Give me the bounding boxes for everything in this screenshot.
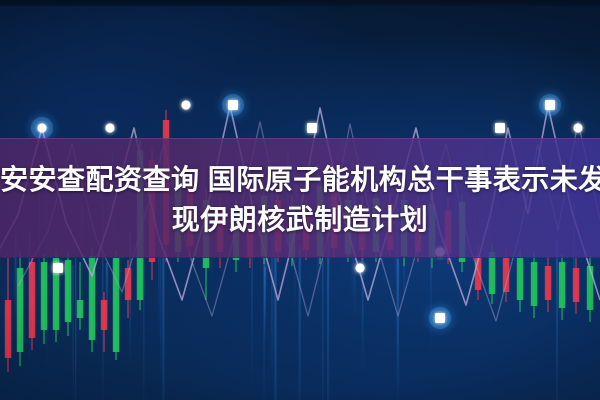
headline-line-2: 现伊朗核武制造计划 [0,200,600,240]
headline-text: 安安查配资查询 国际原子能机构总干事表示未发 现伊朗核武制造计划 [0,160,600,240]
banner-image: 安安查配资查询 国际原子能机构总干事表示未发 现伊朗核武制造计划 [0,0,600,400]
band-top-edge [0,138,600,139]
headline-line-1: 安安查配资查询 国际原子能机构总干事表示未发 [0,164,600,195]
band-bottom-edge [0,257,600,258]
